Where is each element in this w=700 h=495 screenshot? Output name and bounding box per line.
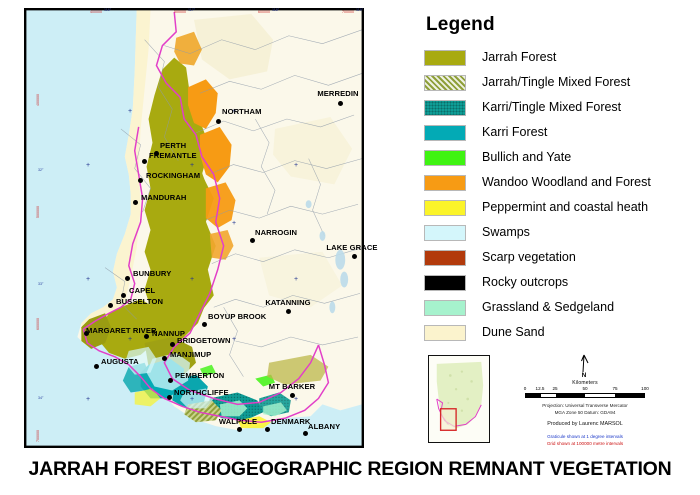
legend-item-label: Wandoo Woodland and Forest <box>482 176 651 189</box>
map-poster: + + + + + + + + + + + + + + MERREDINNORT… <box>0 0 700 495</box>
legend-item[interactable]: Jarrah Forest <box>424 45 692 70</box>
legend-title: Legend <box>426 14 692 36</box>
legend-rows: Jarrah ForestJarrah/Tingle Mixed ForestK… <box>424 45 692 345</box>
graticule-cross: + <box>294 396 298 403</box>
legend-swatch <box>424 175 466 191</box>
legend-swatch <box>424 100 466 116</box>
legend-item-label: Dune Sand <box>482 326 545 339</box>
graticule-cross: + <box>294 276 298 283</box>
legend-item[interactable]: Jarrah/Tingle Mixed Forest <box>424 70 692 95</box>
scale-and-notes: N Kilometers 012.5255075100 Projection: … <box>520 352 650 448</box>
graticule-cross: + <box>190 276 194 283</box>
legend-swatch <box>424 275 466 291</box>
scale-tick-label: 75 <box>612 386 617 391</box>
projection-line-2: MGA Zone 50 Datum: GDA94 <box>520 409 650 416</box>
legend-item[interactable]: Scarp vegetation <box>424 245 692 270</box>
legend-item[interactable]: Dune Sand <box>424 320 692 345</box>
map-graphic <box>26 10 362 446</box>
north-arrow-icon: N <box>520 352 650 378</box>
graticule-cross: + <box>190 162 194 169</box>
graticule-cross: + <box>232 108 236 115</box>
legend-swatch <box>424 300 466 316</box>
inset-locator-map[interactable] <box>428 355 490 443</box>
legend-item-label: Scarp vegetation <box>482 251 576 264</box>
legend-item-label: Swamps <box>482 226 530 239</box>
graticule-cross: + <box>232 336 236 343</box>
legend-swatch <box>424 50 466 66</box>
legend-item-label: Karri Forest <box>482 126 547 139</box>
legend-item-label: Karri/Tingle Mixed Forest <box>482 101 621 114</box>
legend-item[interactable]: Wandoo Woodland and Forest <box>424 170 692 195</box>
scale-tick-label: 12.5 <box>536 386 545 391</box>
projection-line-1: Projection: Universal Transverse Mercato… <box>520 402 650 409</box>
legend-item[interactable]: Swamps <box>424 220 692 245</box>
produced-by: Produced by Laurenc MARSOL <box>520 420 650 428</box>
projection-note: Projection: Universal Transverse Mercato… <box>520 402 650 416</box>
graticule-cross: + <box>128 336 132 343</box>
graticule-cross: + <box>86 396 90 403</box>
legend-swatch <box>424 250 466 266</box>
legend-item[interactable]: Rocky outcrops <box>424 270 692 295</box>
legend-swatch <box>424 75 466 91</box>
scale-tick-labels: 012.5255075100 <box>520 386 650 393</box>
legend-item-label: Grassland & Sedgeland <box>482 301 614 314</box>
scale-bar <box>525 393 645 398</box>
page-title: JARRAH FOREST BIOGEOGRAPHIC REGION REMNA… <box>0 458 700 481</box>
graticule-cross: + <box>128 108 132 115</box>
grid-note: Grid shown at 100000 metre intervals <box>520 441 650 448</box>
legend-item[interactable]: Karri/Tingle Mixed Forest <box>424 95 692 120</box>
graticule-cross: + <box>294 162 298 169</box>
scale-tick-label: 25 <box>552 386 557 391</box>
legend-item-label: Jarrah/Tingle Mixed Forest <box>482 76 630 89</box>
inset-graphic <box>429 356 489 442</box>
graticule-cross: + <box>86 162 90 169</box>
graticule-note: Graticule shown at 1 degree intervals <box>520 434 650 441</box>
legend-item[interactable]: Bullich and Yate <box>424 145 692 170</box>
scale-tick-label: 0 <box>524 386 527 391</box>
legend: Legend Jarrah ForestJarrah/Tingle Mixed … <box>424 14 692 345</box>
legend-swatch <box>424 125 466 141</box>
legend-swatch <box>424 150 466 166</box>
legend-swatch <box>424 225 466 241</box>
graticule-cross: + <box>190 396 194 403</box>
legend-item-label: Jarrah Forest <box>482 51 556 64</box>
main-map[interactable]: + + + + + + + + + + + + + + <box>24 8 364 448</box>
legend-item-label: Bullich and Yate <box>482 151 571 164</box>
graticule-cross: + <box>232 220 236 227</box>
legend-item-label: Peppermint and coastal heath <box>482 201 648 214</box>
graticule-cross: + <box>86 276 90 283</box>
legend-item[interactable]: Grassland & Sedgeland <box>424 295 692 320</box>
scale-tick-label: 100 <box>641 386 649 391</box>
legend-swatch <box>424 200 466 216</box>
scale-tick-label: 50 <box>582 386 587 391</box>
legend-item[interactable]: Karri Forest <box>424 120 692 145</box>
north-arrow: N <box>520 352 650 380</box>
legend-swatch <box>424 325 466 341</box>
legend-item-label: Rocky outcrops <box>482 276 568 289</box>
legend-item[interactable]: Peppermint and coastal heath <box>424 195 692 220</box>
svg-text:N: N <box>582 372 587 378</box>
